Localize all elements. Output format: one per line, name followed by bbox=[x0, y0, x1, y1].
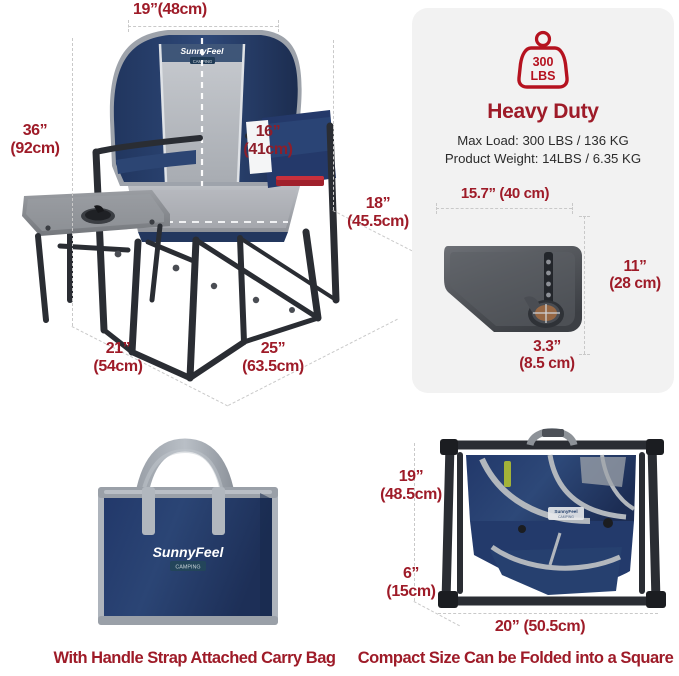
label-seat-back-depth-line1: 16” bbox=[228, 123, 308, 141]
label-chair-depth-line2: (54cm) bbox=[78, 358, 158, 376]
folded-chair-illustration: SunnyFeel CAMPING bbox=[430, 425, 675, 630]
svg-text:CAMPING: CAMPING bbox=[558, 515, 574, 519]
guide-right-vertical bbox=[333, 40, 334, 210]
label-seat-height-line2: (45.5cm) bbox=[343, 213, 413, 231]
guide-table-width-tick-right bbox=[572, 203, 573, 214]
label-table-edge-line2: (8.5 cm) bbox=[502, 355, 592, 372]
label-table-height: 11” (28 cm) bbox=[598, 258, 672, 293]
label-seat-height-line1: 18” bbox=[343, 195, 413, 213]
label-chair-depth: 21” (54cm) bbox=[78, 340, 158, 376]
guide-left-vertical bbox=[72, 38, 73, 326]
label-folded-height-line1: 19” bbox=[372, 468, 450, 486]
folded-chair-caption: Compact Size Can be Folded into a Square bbox=[352, 649, 679, 668]
label-chair-height-line1: 36” bbox=[4, 122, 66, 140]
guide-table-height-tick-top bbox=[579, 216, 590, 217]
label-table-width: 15.7” (40 cm) bbox=[430, 186, 580, 203]
open-chair-figure: SunnyFeel CAMPING bbox=[0, 0, 410, 400]
label-folded-thickness-line1: 6” bbox=[376, 565, 446, 583]
product-weight-line: Product Weight: 14LBS / 6.35 KG bbox=[412, 150, 674, 168]
weight-300lbs-icon: 300 LBS bbox=[515, 30, 571, 92]
max-load-line: Max Load: 300 LBS / 136 KG bbox=[412, 132, 674, 150]
heavy-duty-spec-card: 300 LBS Heavy Duty Max Load: 300 LBS / 1… bbox=[412, 8, 674, 393]
product-dimension-infographic: SunnyFeel CAMPING bbox=[0, 0, 679, 676]
label-folded-height: 19” (48.5cm) bbox=[372, 468, 450, 504]
label-chair-width: 19”(48cm) bbox=[133, 1, 207, 19]
guide-width-tick-left bbox=[128, 20, 129, 32]
label-chair-depth-line1: 21” bbox=[78, 340, 158, 358]
guide-top-horizontal bbox=[128, 26, 278, 27]
side-table-illustration bbox=[440, 240, 588, 350]
guide-folded-bottom bbox=[438, 613, 658, 614]
label-table-edge: 3.3” (8.5 cm) bbox=[502, 338, 592, 373]
label-table-edge-line1: 3.3” bbox=[502, 338, 592, 355]
guide-table-width-tick-left bbox=[436, 203, 437, 214]
label-chair-height-line2: (92cm) bbox=[4, 140, 66, 158]
label-chair-height: 36” (92cm) bbox=[4, 122, 66, 158]
svg-text:CAMPING: CAMPING bbox=[175, 565, 200, 571]
label-seat-height: 18” (45.5cm) bbox=[343, 195, 413, 231]
label-folded-thickness-line2: (15cm) bbox=[376, 583, 446, 601]
guide-table-width-line bbox=[436, 208, 572, 209]
label-seat-back-depth: 16” (41cm) bbox=[228, 123, 308, 159]
heavy-duty-title: Heavy Duty bbox=[412, 100, 674, 124]
weight-icon-unit: LBS bbox=[531, 69, 556, 83]
label-table-height-line2: (28 cm) bbox=[598, 275, 672, 292]
weight-icon-value: 300 bbox=[533, 55, 554, 69]
spec-text-block: Max Load: 300 LBS / 136 KG Product Weigh… bbox=[412, 132, 674, 168]
carry-bag-figure: SunnyFeel CAMPING bbox=[60, 435, 350, 635]
label-table-height-line1: 11” bbox=[598, 258, 672, 275]
label-folded-thickness: 6” (15cm) bbox=[376, 565, 446, 601]
svg-text:SunnyFeel: SunnyFeel bbox=[554, 509, 577, 514]
guide-width-tick-right bbox=[278, 20, 279, 32]
carry-bag-caption: With Handle Strap Attached Carry Bag bbox=[22, 649, 367, 668]
label-folded-width: 20” (50.5cm) bbox=[460, 618, 620, 636]
label-chair-base-width-line1: 25” bbox=[228, 340, 318, 358]
carry-bag-illustration: SunnyFeel CAMPING bbox=[60, 435, 350, 635]
folded-chair-figure: SunnyFeel CAMPING bbox=[430, 425, 675, 630]
label-chair-base-width-line2: (63.5cm) bbox=[228, 358, 318, 376]
svg-text:SunnyFeel: SunnyFeel bbox=[153, 544, 225, 560]
label-seat-back-depth-line2: (41cm) bbox=[228, 141, 308, 159]
label-folded-height-line2: (48.5cm) bbox=[372, 486, 450, 504]
label-chair-base-width: 25” (63.5cm) bbox=[228, 340, 318, 376]
